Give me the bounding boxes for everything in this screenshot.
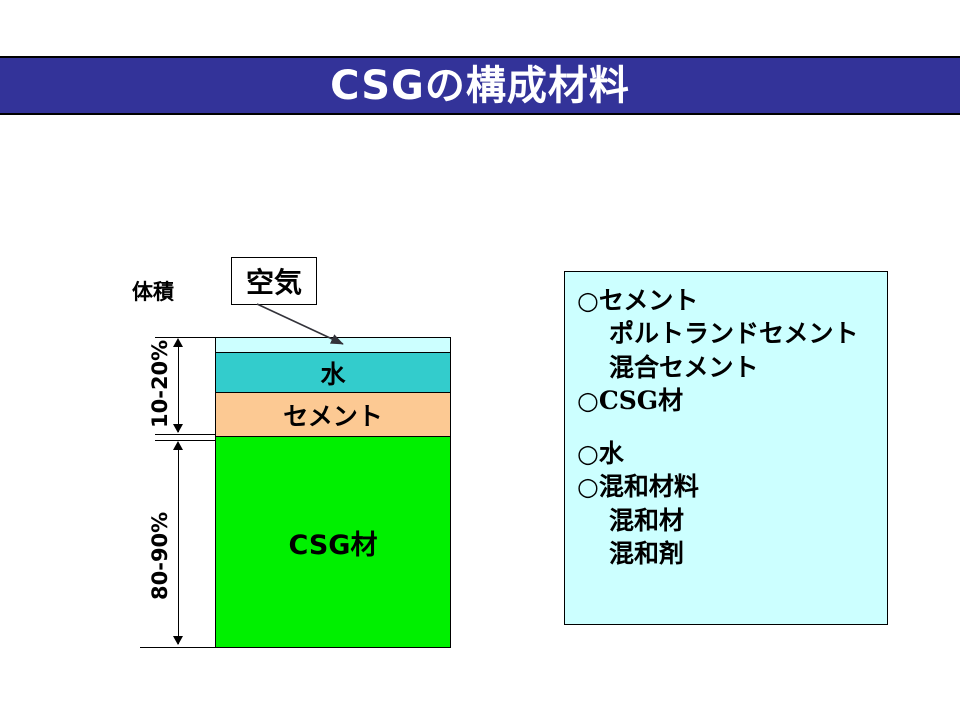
list-item: 混合セメント xyxy=(577,351,887,384)
dimension-line-lower xyxy=(178,444,179,644)
arrowhead-down-icon xyxy=(173,636,183,645)
dimension-tick-mid-b xyxy=(155,440,217,441)
stack-layer-water: 水 xyxy=(215,352,451,393)
materials-list-panel: ○セメント ポルトランドセメント 混合セメント ○CSG材 ○水 ○混和材料 混… xyxy=(564,271,888,625)
dimension-label-upper: 10-20% xyxy=(148,340,172,428)
stack-layer-cement: セメント xyxy=(215,392,451,437)
dimension-tick-top xyxy=(155,337,217,338)
dimension-label-lower: 80-90% xyxy=(148,512,172,600)
list-item: ○水 xyxy=(577,437,887,470)
list-item: ○CSG材 xyxy=(577,384,887,417)
air-callout-arrow-icon xyxy=(255,300,365,355)
list-item: 混和剤 xyxy=(577,537,887,570)
air-callout-box: 空気 xyxy=(231,257,317,305)
list-item: ○混和材料 xyxy=(577,470,887,503)
arrowhead-up-icon xyxy=(173,441,183,450)
list-item: ○セメント xyxy=(577,284,887,317)
arrowhead-up-icon xyxy=(173,338,183,347)
list-spacer xyxy=(577,417,887,437)
dimension-tick-bottom xyxy=(140,647,217,648)
dimension-tick-mid-a xyxy=(155,434,217,435)
list-item: ポルトランドセメント xyxy=(577,317,887,350)
list-item: 混和材 xyxy=(577,504,887,537)
stack-layer-csg: CSG材 xyxy=(215,436,451,648)
arrowhead-down-icon xyxy=(173,424,183,433)
material-stack: 水 セメント CSG材 xyxy=(215,337,451,648)
dimension-line-upper xyxy=(178,340,179,432)
volume-axis-label: 体積 xyxy=(132,276,174,306)
composition-stack-diagram: 体積 10-20% 80-90% 水 セメント CSG材 空気 xyxy=(0,0,520,720)
